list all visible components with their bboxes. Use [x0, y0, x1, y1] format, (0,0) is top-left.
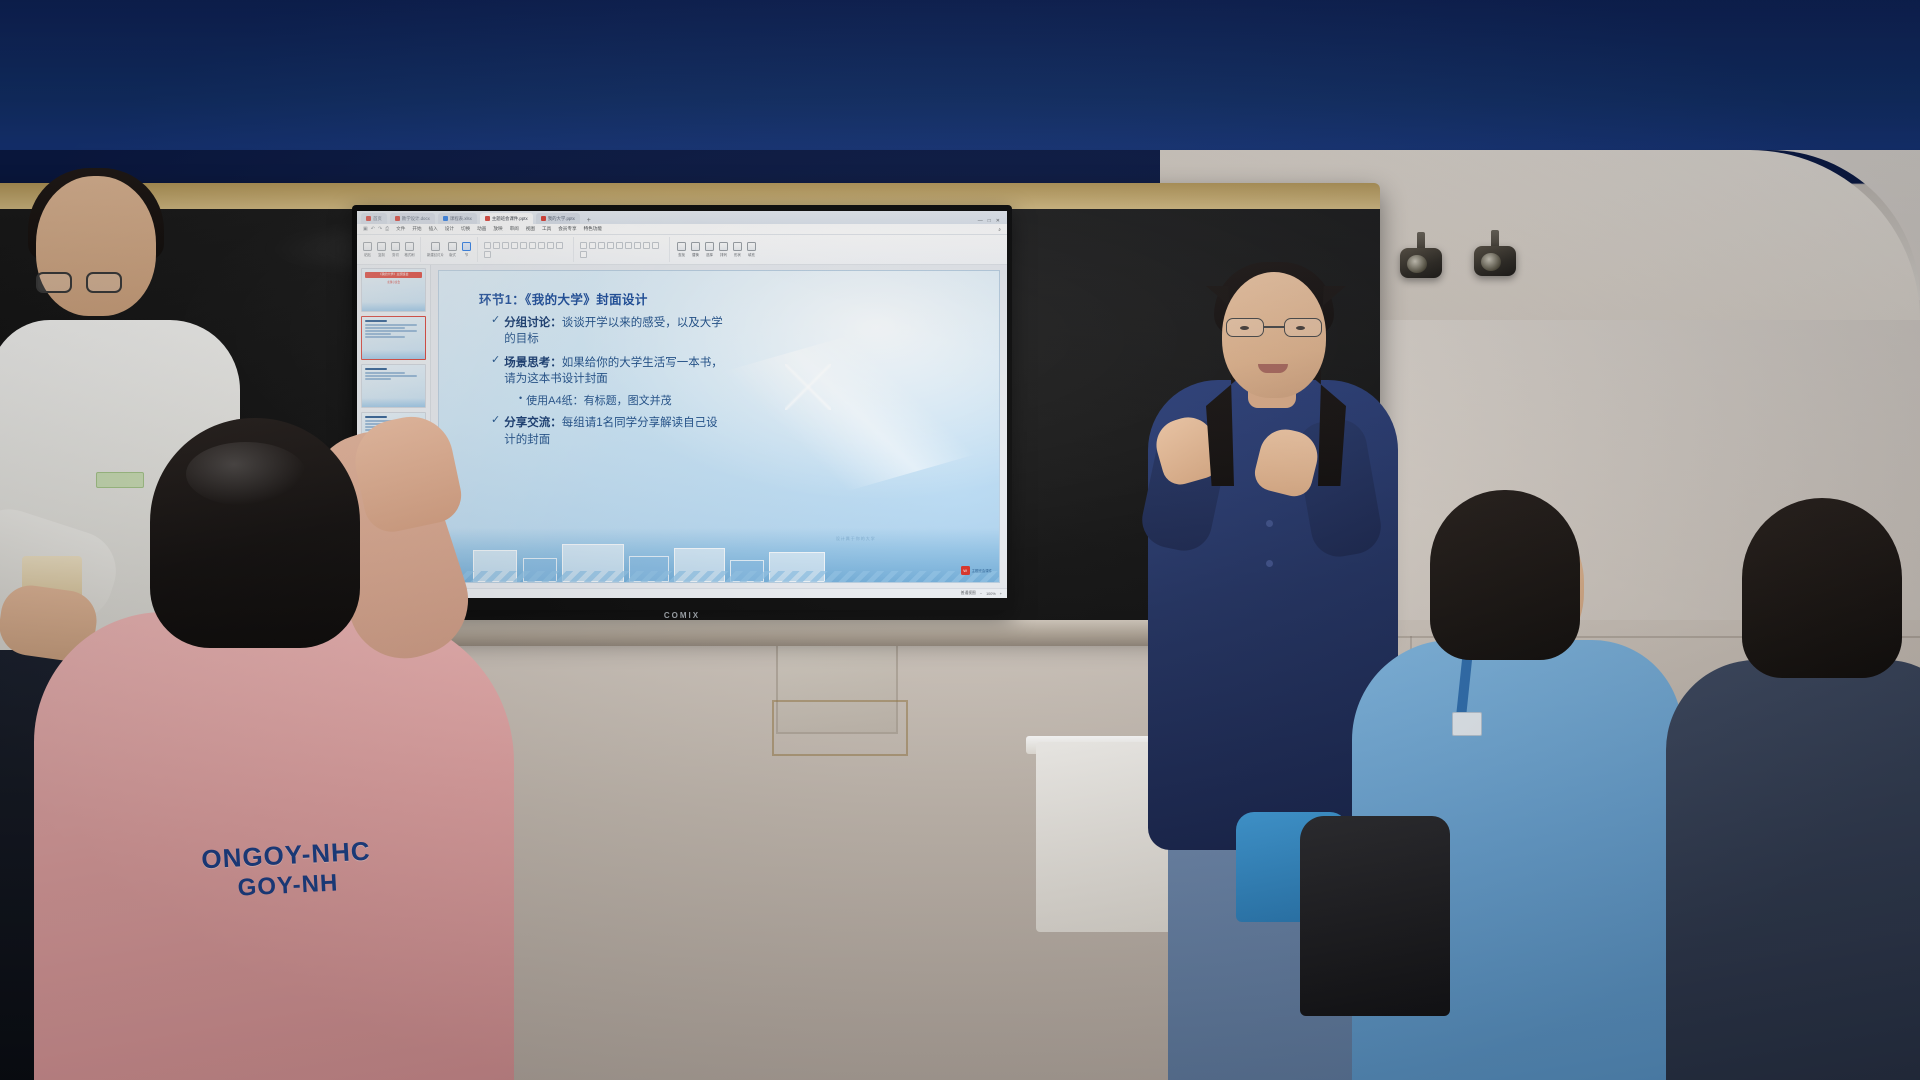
bullet-text: 分组讨论：谈谈开学以来的感受，以及大学的目标	[504, 315, 723, 348]
button-label: 版式	[449, 252, 456, 257]
thumbnail-line	[365, 375, 417, 377]
slide-text-block[interactable]: 环节1：《我的大学》封面设计 ✓ 分组讨论：谈谈开学以来的感受，以及大学的目标 …	[479, 289, 989, 448]
bullet-wrap: 的目标	[504, 333, 539, 345]
thumbnail-line	[365, 327, 405, 329]
close-icon[interactable]: ✕	[996, 218, 1000, 224]
new-slide-icon	[431, 242, 440, 251]
menu-item-slideshow[interactable]: 放映	[493, 226, 502, 232]
wps-tab-active[interactable]: 主题班会课件.pptx	[480, 213, 533, 224]
slide-decoration-cityscape	[439, 528, 999, 582]
line-spacing-icon[interactable]	[643, 242, 650, 249]
wps-workspace: 《我的大学》主题班会 主题小班会	[357, 265, 1007, 588]
student-left-name-tag	[96, 472, 144, 488]
lens-left	[36, 272, 72, 293]
tab-label: 教学设计.docx	[402, 216, 430, 222]
thumbnail-line	[365, 333, 391, 335]
wps-tab[interactable]: 首页	[361, 213, 387, 224]
slide-bullet: ✓ 分组讨论：谈谈开学以来的感受，以及大学的目标	[479, 315, 989, 348]
align-center-icon[interactable]	[625, 242, 632, 249]
button-label: 查找	[678, 252, 685, 257]
find-button[interactable]: 查找	[676, 242, 687, 257]
section-icon	[462, 242, 471, 251]
menu-item-tools[interactable]: 工具	[542, 226, 551, 232]
thumbnail-heading	[365, 320, 387, 322]
slide-thumbnail-selected[interactable]	[361, 316, 426, 360]
menu-item-member[interactable]: 会员专享	[558, 226, 576, 232]
thumbnail-line	[365, 372, 405, 374]
classroom-scene: 首页 教学设计.docx 课程表.xlsx 主题班会课件.pptx	[0, 0, 1920, 1080]
bullet-label: 分享交流：	[504, 417, 562, 429]
bullet-body: 如果给你的大学生活写一本书，	[562, 357, 723, 369]
badge-label: 主题班会课件	[972, 568, 992, 573]
format-painter-button[interactable]: 格式刷	[404, 242, 415, 257]
slide-bullet: ✓ 分享交流：每组请1名同学分享解读自己设计的封面	[479, 415, 989, 448]
window-controls[interactable]: — □ ✕	[978, 218, 1003, 224]
indent-increase-icon[interactable]	[607, 242, 614, 249]
layout-icon	[448, 242, 457, 251]
display-brand-label: COMIX	[664, 611, 700, 620]
current-slide[interactable]: 设计属于你的大学 W 主题班会课件 环节1：《我的大学》封面设计 ✓ 分组讨论：…	[438, 270, 1000, 583]
slide-thumbnail[interactable]: 《我的大学》主题班会 主题小班会	[361, 268, 426, 312]
bullet-body: 谈谈开学以来的感受，以及大学	[562, 317, 723, 329]
font-size-decrease-icon[interactable]	[529, 242, 536, 249]
slide-decoration-sawtooth	[439, 571, 999, 582]
replace-icon	[691, 242, 700, 251]
wps-badge-icon: W	[961, 566, 970, 575]
wall-niche-frame	[772, 700, 908, 756]
button-label: 替换	[692, 252, 699, 257]
thumbnail-line	[365, 336, 405, 338]
menu-item-insert[interactable]: 插入	[429, 226, 438, 232]
copy-button[interactable]: 复制	[376, 242, 387, 257]
maximize-icon[interactable]: □	[988, 218, 991, 224]
copy-icon	[377, 242, 386, 251]
menu-item-animation[interactable]: 动画	[477, 226, 486, 232]
wps-tab[interactable]: 我的大学.pptx	[536, 213, 580, 224]
checkmark-icon: ✓	[491, 315, 500, 348]
view-mode-label[interactable]: 普通视图	[961, 591, 976, 596]
select-icon	[705, 242, 714, 251]
ribbon-group-clipboard: 粘贴 复制 剪切 格式刷	[362, 237, 421, 262]
student-far-right-torso	[1666, 660, 1920, 1080]
thumbnail-heading	[365, 416, 387, 418]
thumbnail-subtitle: 主题小班会	[365, 280, 422, 284]
quick-access-toolbar[interactable]: ▣ ↶ ↷ ⎙	[363, 226, 389, 232]
font-color-icon[interactable]	[538, 242, 545, 249]
tab-label: 首页	[373, 216, 382, 222]
slide-thumbnail[interactable]	[361, 364, 426, 408]
print-icon[interactable]: ⎙	[385, 226, 389, 232]
text-direction-icon[interactable]	[580, 251, 587, 258]
slide-bullet: ✓ 场景思考：如果给你的大学生活写一本书，请为这本书设计封面	[479, 355, 989, 388]
bullet-label: 场景思考：	[504, 357, 562, 369]
lens-right	[86, 272, 122, 293]
zoom-in-icon[interactable]: +	[1000, 592, 1002, 596]
whiteboard-screen[interactable]: 首页 教学设计.docx 课程表.xlsx 主题班会课件.pptx	[357, 211, 1007, 598]
lamp-lens	[1407, 255, 1427, 273]
thumbnail-line	[365, 378, 391, 380]
button-label: 新建幻灯片	[427, 252, 444, 257]
bullet-wrap: 请为这本书设计封面	[504, 373, 608, 385]
shape-icon	[733, 242, 742, 251]
button-label: 选择	[706, 252, 713, 257]
button-label: 排列	[720, 252, 727, 257]
bullet-label: 分组讨论：	[504, 317, 562, 329]
thumbnail-line	[365, 324, 417, 326]
save-icon[interactable]: ▣	[363, 226, 368, 232]
menu-item-view[interactable]: 视图	[526, 226, 535, 232]
lens-right	[1284, 318, 1322, 337]
student-left-head	[36, 176, 156, 316]
paste-button[interactable]: 粘贴	[362, 242, 373, 257]
font-controls[interactable]	[484, 242, 568, 258]
wps-tab[interactable]: 课程表.xlsx	[438, 213, 477, 224]
slide-watermark: 设计属于你的大学	[836, 536, 876, 542]
hair-highlight	[186, 442, 306, 506]
backpack	[1300, 816, 1450, 1016]
menu-item-review[interactable]: 审阅	[510, 226, 519, 232]
sub-bullet-text: 使用A4纸：有标题，图文并茂	[526, 392, 671, 408]
menu-item-home[interactable]: 开始	[412, 226, 421, 232]
wps-tab[interactable]: 教学设计.docx	[390, 213, 435, 224]
search-icon[interactable]: ⌕	[998, 227, 1001, 232]
button-label: 填充	[748, 252, 755, 257]
button-label: 节	[465, 252, 468, 257]
button-label: 粘贴	[364, 252, 371, 257]
cut-icon	[391, 242, 400, 251]
find-icon	[677, 242, 686, 251]
minimize-icon[interactable]: —	[978, 218, 983, 224]
lamp-lens	[1481, 253, 1501, 271]
spotlight-right	[1472, 230, 1518, 284]
thumbnail-artwork	[362, 398, 425, 407]
redo-icon[interactable]: ↷	[378, 226, 382, 232]
wps-home-icon	[366, 216, 371, 221]
clear-format-icon[interactable]	[556, 242, 563, 249]
ribbon-group-editing: 查找 替换 选择 排列	[676, 237, 762, 262]
sheet-icon	[443, 216, 448, 221]
format-painter-icon	[405, 242, 414, 251]
zoom-out-icon[interactable]: −	[980, 592, 982, 596]
button-label: 格式刷	[404, 252, 414, 257]
cut-button[interactable]: 剪切	[390, 242, 401, 257]
bullet-text: 分享交流：每组请1名同学分享解读自己设计的封面	[504, 415, 717, 448]
strikethrough-icon[interactable]	[511, 242, 518, 249]
bullet-dot-icon: •	[519, 392, 522, 408]
ppt-icon	[485, 216, 490, 221]
id-badge	[1452, 712, 1482, 736]
ribbon-group-paragraph	[580, 237, 670, 262]
menu-item-file[interactable]: 文件	[396, 226, 405, 232]
shape-button[interactable]: 形状	[732, 242, 743, 257]
highlight-icon[interactable]	[547, 242, 554, 249]
new-tab-button[interactable]: +	[583, 217, 595, 224]
bullet-text: 场景思考：如果给你的大学生活写一本书，请为这本书设计封面	[504, 355, 723, 388]
undo-icon[interactable]: ↶	[371, 226, 375, 232]
new-slide-button[interactable]: 新建幻灯片	[427, 242, 444, 257]
bullet-body: 每组请1名同学分享解读自己设	[562, 417, 718, 429]
checkmark-icon: ✓	[491, 415, 500, 448]
numbered-list-icon[interactable]	[589, 242, 596, 249]
fill-button[interactable]: 填充	[746, 242, 757, 257]
zoom-level[interactable]: 100%	[986, 592, 996, 596]
paragraph-controls[interactable]	[580, 242, 664, 258]
menu-item-features[interactable]: 特色功能	[584, 226, 602, 232]
slide-canvas[interactable]: 设计属于你的大学 W 主题班会课件 环节1：《我的大学》封面设计 ✓ 分组讨论：…	[431, 265, 1007, 588]
lens-left	[1226, 318, 1264, 337]
ppt-icon	[541, 216, 546, 221]
menu-item-transition[interactable]: 切换	[461, 226, 470, 232]
slide-title: 环节1：《我的大学》封面设计	[479, 289, 989, 308]
wps-ribbon[interactable]: 粘贴 复制 剪切 格式刷	[357, 235, 1007, 265]
thumbnail-title: 《我的大学》主题班会	[365, 272, 422, 278]
slide-logo-badge: W 主题班会课件	[961, 566, 992, 575]
tab-label: 我的大学.pptx	[548, 216, 575, 222]
bullet-list-icon[interactable]	[580, 242, 587, 249]
wps-presentation-window[interactable]: 首页 教学设计.docx 课程表.xlsx 主题班会课件.pptx	[357, 211, 1007, 598]
italic-icon[interactable]	[493, 242, 500, 249]
arrange-icon	[719, 242, 728, 251]
align-right-icon[interactable]	[634, 242, 641, 249]
spotlight-left	[1398, 232, 1444, 286]
button-label: 复制	[378, 252, 385, 257]
wps-menu-bar[interactable]: ▣ ↶ ↷ ⎙ 文件 开始 插入 设计 切换 动画 放映 审阅 视图 工具 会员…	[357, 224, 1007, 235]
ribbon-group-slides: 新建幻灯片 版式 节	[427, 237, 478, 262]
underline-icon[interactable]	[502, 242, 509, 249]
font-size-increase-icon[interactable]	[520, 242, 527, 249]
teacher-mouth	[1258, 364, 1288, 373]
student-far-right-head	[1742, 498, 1902, 678]
checkmark-icon: ✓	[491, 355, 500, 388]
bullet-wrap: 计的封面	[504, 434, 550, 446]
tab-label: 课程表.xlsx	[450, 216, 472, 222]
glasses-bridge	[1264, 326, 1284, 328]
section-button[interactable]: 节	[461, 242, 472, 257]
bold-icon[interactable]	[484, 242, 491, 249]
menu-item-design[interactable]: 设计	[445, 226, 454, 232]
thumbnail-artwork	[362, 350, 425, 359]
student-left-glasses	[36, 272, 122, 294]
button-label: 形状	[734, 252, 741, 257]
select-button[interactable]: 选择	[704, 242, 715, 257]
text-effects-icon[interactable]	[484, 251, 491, 258]
columns-icon[interactable]	[652, 242, 659, 249]
replace-button[interactable]: 替换	[690, 242, 701, 257]
doc-icon	[395, 216, 400, 221]
tab-label: 主题班会课件.pptx	[492, 216, 528, 222]
arrange-button[interactable]: 排列	[718, 242, 729, 257]
shirt-button	[1266, 560, 1273, 567]
shirt-button	[1266, 520, 1273, 527]
teacher-glasses	[1226, 318, 1322, 338]
align-left-icon[interactable]	[616, 242, 623, 249]
slide-sub-bullet: • 使用A4纸：有标题，图文并茂	[479, 392, 989, 408]
status-right-group[interactable]: 普通视图 − 100% +	[961, 591, 1002, 596]
thumbnail-line	[365, 330, 417, 332]
wps-tab-bar[interactable]: 首页 教学设计.docx 课程表.xlsx 主题班会课件.pptx	[357, 211, 1007, 224]
indent-decrease-icon[interactable]	[598, 242, 605, 249]
paste-icon	[363, 242, 372, 251]
button-label: 剪切	[392, 252, 399, 257]
fill-icon	[747, 242, 756, 251]
thumbnail-artwork	[362, 302, 425, 311]
student-right-head	[1430, 490, 1580, 660]
ribbon-group-font	[484, 237, 574, 262]
layout-button[interactable]: 版式	[447, 242, 458, 257]
thumbnail-heading	[365, 368, 387, 370]
